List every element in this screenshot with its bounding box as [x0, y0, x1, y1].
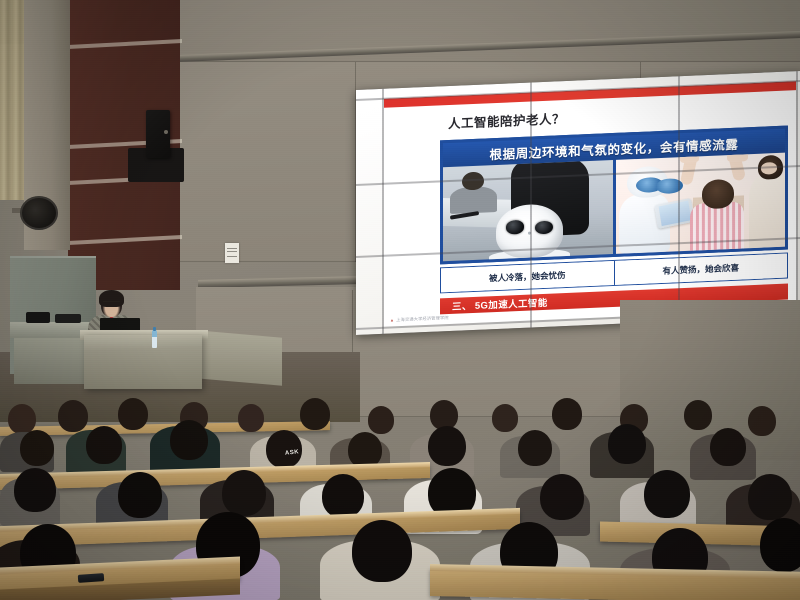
wall-speaker-icon: [146, 110, 170, 158]
audience-head: [118, 398, 148, 430]
lcd-video-wall[interactable]: 人工智能陪护老人？ 根据周边环境和气氛的变化，会有情感流露: [356, 71, 800, 335]
audience-head: [300, 398, 330, 430]
audience-head: [222, 470, 266, 516]
audience-head: [14, 468, 56, 512]
audience-head: [608, 424, 646, 464]
glasses-icon: [103, 301, 120, 305]
audience-head: [552, 398, 582, 430]
audience-head: [748, 474, 792, 520]
presentation-slide: 人工智能陪护老人？ 根据周边环境和气氛的变化，会有情感流露: [384, 81, 796, 327]
wall-notice: [225, 243, 239, 263]
audience-head: [492, 404, 518, 432]
robot-eye-right: [656, 178, 683, 194]
wood-panel-top: [68, 0, 180, 44]
slide-section-label: 三、 5G加速人工智能: [440, 295, 548, 314]
audience-head: [238, 404, 264, 432]
audience-head: [518, 430, 552, 466]
audience-head: [428, 426, 466, 466]
slide-photo-row: [443, 153, 785, 262]
audience-head: [368, 406, 394, 434]
audience-head: [170, 420, 208, 460]
lectern: [84, 335, 202, 389]
audience-head: [760, 518, 800, 572]
audience-head: [352, 520, 412, 582]
caption-left: 被人冷落，她会忧伤: [441, 261, 614, 292]
cabinet-device-2: [55, 314, 81, 323]
audience-head: [684, 400, 712, 430]
audience-head: [540, 474, 584, 520]
audience-head: [118, 472, 162, 518]
audience-head: [644, 470, 690, 518]
audience-head: [8, 404, 36, 434]
pepper-robot-with-child-photo: [616, 153, 786, 254]
fan-cage: [20, 196, 58, 230]
water-bottle: [152, 330, 157, 348]
wall-fan-icon: [20, 196, 58, 230]
caption-right: 有人赞扬，她会欣喜: [614, 254, 788, 285]
cabinet-device-1: [26, 312, 50, 323]
podium-side-extension: [196, 330, 282, 386]
audience-head: [86, 426, 122, 464]
audience-head: [710, 428, 746, 466]
lecture-hall-photo: 人工智能陪护老人？ 根据周边环境和气氛的变化，会有情感流露: [0, 0, 800, 600]
slide-image-frame: 根据周边环境和气氛的变化，会有情感流露: [440, 126, 788, 265]
curtain: [0, 0, 26, 200]
audience-head: [322, 474, 364, 518]
robot-head: [496, 203, 564, 259]
audience-head: [20, 430, 54, 466]
audience-head: [58, 400, 88, 432]
pepper-robot-with-researchers-photo: [443, 160, 613, 261]
slide-footnote: 上海交通大学经济管理学院: [390, 315, 449, 324]
slide-title: 人工智能陪护老人？: [448, 108, 565, 132]
audience-head: [748, 406, 776, 436]
